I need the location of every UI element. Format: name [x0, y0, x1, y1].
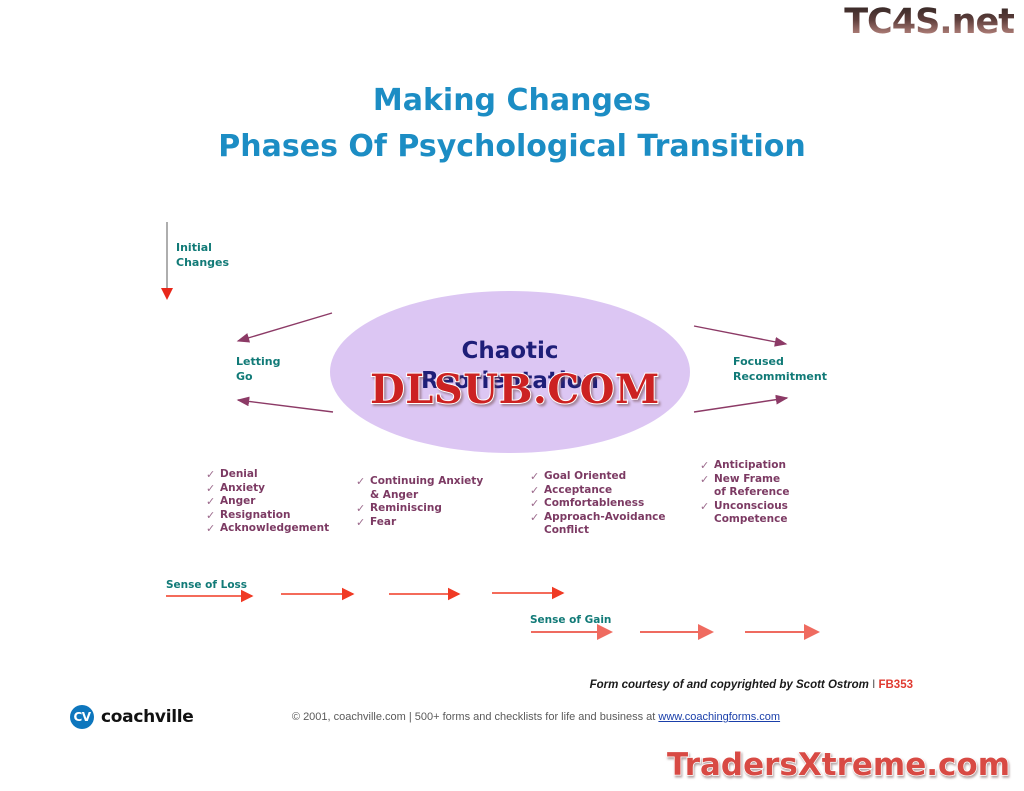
- checklist-recommitment: ✓Anticipation✓New Frameof Reference✓Unco…: [700, 459, 789, 527]
- letting-go-line-2: Go: [236, 369, 280, 384]
- checklist-item-label: Approach-Avoidance: [544, 511, 666, 525]
- checklist-item: ✓Anger: [206, 495, 329, 509]
- checklist-item: ✓Acknowledgement: [206, 522, 329, 536]
- checklist-item-label: Anxiety: [220, 482, 265, 496]
- arrow-ellipse-to-recommitment-upper: [694, 326, 786, 344]
- checklist-item-continuation: of Reference: [700, 486, 789, 500]
- dlsub-watermark: DLSUB.COM: [370, 366, 660, 413]
- title-line-2: Phases Of Psychological Transition: [0, 124, 1024, 170]
- checklist-reorientation: ✓Goal Oriented✓Acceptance✓Comfortablenes…: [530, 470, 666, 538]
- credit-separator: I: [872, 679, 875, 691]
- arrow-ellipse-to-recommitment-lower: [694, 398, 787, 412]
- checklist-item-label: Continuing Anxiety: [370, 475, 483, 489]
- checklist-item: ✓Goal Oriented: [530, 470, 666, 484]
- credit-text: Form courtesy of and copyrighted by Scot…: [590, 679, 869, 691]
- label-letting-go: Letting Go: [236, 354, 280, 384]
- checklist-item-label: Comfortableness: [544, 497, 644, 511]
- checklist-item: ✓Continuing Anxiety: [356, 475, 483, 489]
- check-icon: ✓: [356, 516, 370, 530]
- check-icon: ✓: [206, 495, 220, 509]
- checklist-item-label: Unconscious: [714, 500, 788, 514]
- checklist-item: ✓Reminiscing: [356, 502, 483, 516]
- checklist-item: ✓Acceptance: [530, 484, 666, 498]
- tc4s-watermark: TC4S.net: [844, 2, 1014, 42]
- checklist-item-label: Denial: [220, 468, 258, 482]
- coachingforms-link[interactable]: www.coachingforms.com: [658, 711, 780, 723]
- checklist-item: ✓Approach-Avoidance: [530, 511, 666, 525]
- checklist-item: ✓Anticipation: [700, 459, 789, 473]
- center-phase-line-1: Chaotic: [330, 336, 690, 366]
- tradersxtreme-watermark: TradersXtreme.com: [667, 747, 1010, 783]
- checklist-letting-go: ✓Denial✓Anxiety✓Anger✓Resignation✓Acknow…: [206, 468, 329, 536]
- check-icon: ✓: [530, 511, 544, 525]
- initial-changes-line-1: Initial: [176, 240, 229, 255]
- label-initial-changes: Initial Changes: [176, 240, 229, 270]
- checklist-item-label: Goal Oriented: [544, 470, 626, 484]
- checklist-item: ✓Fear: [356, 516, 483, 530]
- label-sense-of-loss: Sense of Loss: [166, 578, 247, 593]
- check-icon: ✓: [700, 500, 714, 514]
- focused-line-2: Recommitment: [733, 369, 827, 384]
- checklist-item: ✓Resignation: [206, 509, 329, 523]
- checklist-item-continuation: & Anger: [356, 489, 483, 503]
- check-icon: ✓: [356, 502, 370, 516]
- arrow-ellipse-to-letting-go-upper: [238, 313, 332, 341]
- check-icon: ✓: [530, 470, 544, 484]
- initial-changes-arrow-head: [161, 288, 173, 300]
- check-icon: ✓: [206, 522, 220, 536]
- check-icon: ✓: [206, 482, 220, 496]
- title-line-1: Making Changes: [0, 78, 1024, 124]
- check-icon: ✓: [206, 509, 220, 523]
- checklist-item: ✓Anxiety: [206, 482, 329, 496]
- checklist-item-label: Acceptance: [544, 484, 612, 498]
- check-icon: ✓: [700, 473, 714, 487]
- checklist-item: ✓New Frame: [700, 473, 789, 487]
- focused-line-1: Focused: [733, 354, 827, 369]
- check-icon: ✓: [530, 484, 544, 498]
- cv-badge-icon: CV: [70, 705, 94, 729]
- label-focused-recommitment: Focused Recommitment: [733, 354, 827, 384]
- arrow-ellipse-to-letting-go-lower: [238, 400, 333, 412]
- check-icon: ✓: [356, 475, 370, 489]
- coachville-logo: CV coachville: [70, 705, 194, 729]
- copyright-text: © 2001, coachville.com | 500+ forms and …: [292, 711, 659, 723]
- poster-canvas: TC4S.net Making Changes Phases Of Psycho…: [0, 0, 1024, 791]
- checklist-item-label: New Frame: [714, 473, 780, 487]
- page-title: Making Changes Phases Of Psychological T…: [0, 78, 1024, 170]
- checklist-item: ✓Comfortableness: [530, 497, 666, 511]
- label-sense-of-gain: Sense of Gain: [530, 613, 611, 628]
- checklist-item: ✓Unconscious: [700, 500, 789, 514]
- checklist-item-label: Reminiscing: [370, 502, 442, 516]
- checklist-item-continuation: Conflict: [530, 524, 666, 538]
- checklist-item-label: Resignation: [220, 509, 290, 523]
- check-icon: ✓: [206, 468, 220, 482]
- letting-go-line-1: Letting: [236, 354, 280, 369]
- checklist-transition: ✓Continuing Anxiety& Anger✓Reminiscing✓F…: [356, 475, 483, 529]
- coachville-wordmark: coachville: [101, 707, 194, 727]
- check-icon: ✓: [700, 459, 714, 473]
- checklist-item-label: Acknowledgement: [220, 522, 329, 536]
- checklist-item-label: Anger: [220, 495, 255, 509]
- credit-code: FB353: [878, 679, 913, 691]
- checklist-item-continuation: Competence: [700, 513, 789, 527]
- initial-changes-line-2: Changes: [176, 255, 229, 270]
- check-icon: ✓: [530, 497, 544, 511]
- checklist-item-label: Fear: [370, 516, 396, 530]
- checklist-item: ✓Denial: [206, 468, 329, 482]
- checklist-item-label: Anticipation: [714, 459, 786, 473]
- credit-line: Form courtesy of and copyrighted by Scot…: [0, 679, 1024, 691]
